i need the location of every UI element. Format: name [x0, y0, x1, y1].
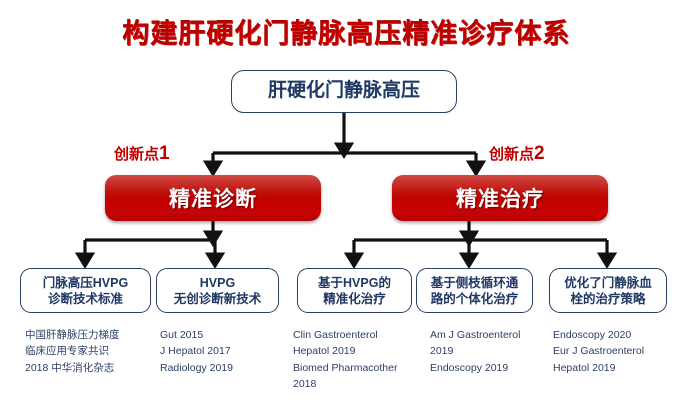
leaf-node-4-text: 基于侧枝循环通 路的个体化治疗 — [431, 275, 519, 307]
branch-node-treatment-label: 精准治疗 — [456, 183, 544, 213]
leaf-node-2-line2: 无创诊断新技术 — [174, 291, 262, 307]
leaf-node-4-line1: 基于侧枝循环通 — [431, 275, 519, 291]
innovation-label-1: 创新点1 — [114, 143, 170, 165]
root-node[interactable]: 肝硬化门静脉高压 — [231, 70, 457, 113]
citations-5: Endoscopy 2020 Eur J Gastroenterol Hepat… — [553, 327, 693, 376]
leaf-node-3-line1: 基于HVPG的 — [318, 275, 391, 291]
innovation-label-2-text: 创新点 — [489, 146, 534, 163]
leaf-node-5-line1: 优化了门静脉血 — [564, 275, 652, 291]
leaf-node-3[interactable]: 基于HVPG的 精准化治疗 — [297, 268, 412, 313]
citations-1: 中国肝静脉压力梯度 临床应用专家共识 2018 中华消化杂志 — [25, 327, 160, 376]
branch-node-diagnosis-label: 精准诊断 — [169, 183, 257, 213]
leaf-node-5-line2: 栓的治疗策略 — [564, 291, 652, 307]
leaf-node-3-text: 基于HVPG的 精准化治疗 — [318, 275, 391, 307]
leaf-node-3-line2: 精准化治疗 — [318, 291, 391, 307]
innovation-label-2: 创新点2 — [489, 143, 545, 165]
slide-canvas: 构建肝硬化门静脉高压精准诊疗体系 — [0, 0, 693, 403]
citations-4: Am J Gastroenterol 2019 Endoscopy 2019 — [430, 327, 555, 376]
branch-node-treatment[interactable]: 精准治疗 — [392, 175, 608, 221]
leaf-node-1-line2: 诊断技术标准 — [43, 291, 128, 307]
citations-2: Gut 2015 J Hepatol 2017 Radiology 2019 — [160, 327, 290, 376]
leaf-node-2[interactable]: HVPG 无创诊断新技术 — [156, 268, 279, 313]
leaf-node-1-line1: 门脉高压HVPG — [43, 275, 128, 291]
root-node-label: 肝硬化门静脉高压 — [268, 79, 420, 103]
leaf-node-4-line2: 路的个体化治疗 — [431, 291, 519, 307]
leaf-node-1[interactable]: 门脉高压HVPG 诊断技术标准 — [20, 268, 151, 313]
leaf-node-2-line1: HVPG — [174, 275, 262, 291]
citations-3: Clin Gastroenterol Hepatol 2019 Biomed P… — [293, 327, 428, 392]
innovation-label-1-number: 1 — [159, 143, 170, 164]
leaf-node-5[interactable]: 优化了门静脉血 栓的治疗策略 — [549, 268, 667, 313]
innovation-label-1-text: 创新点 — [114, 146, 159, 163]
leaf-node-4[interactable]: 基于侧枝循环通 路的个体化治疗 — [416, 268, 533, 313]
branch-node-diagnosis[interactable]: 精准诊断 — [105, 175, 321, 221]
leaf-node-1-text: 门脉高压HVPG 诊断技术标准 — [43, 275, 128, 307]
innovation-label-2-number: 2 — [534, 143, 545, 164]
leaf-node-5-text: 优化了门静脉血 栓的治疗策略 — [564, 275, 652, 307]
leaf-node-2-text: HVPG 无创诊断新技术 — [174, 275, 262, 307]
